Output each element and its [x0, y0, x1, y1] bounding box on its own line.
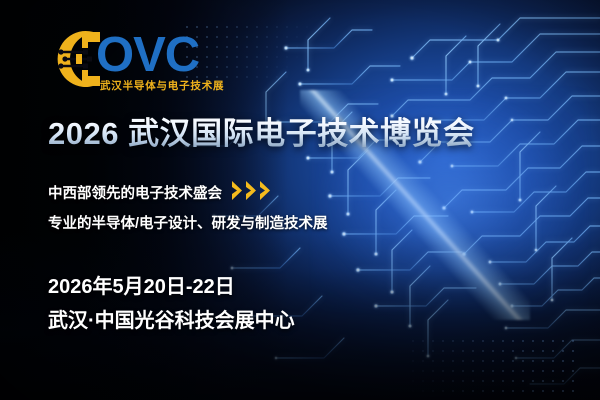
logo-wordmark: OVC	[96, 26, 199, 84]
logo-tagline: 武汉半导体与电子技术展	[100, 78, 224, 93]
poster-subtitle-secondary: 专业的半导体/电子设计、研发与制造技术展	[48, 212, 328, 233]
exhibition-poster: OVC 武汉半导体与电子技术展 2026 武汉国际电子技术博览会 中西部领先的电…	[0, 0, 600, 400]
event-date: 2026年5月20日-22日	[48, 270, 235, 299]
chevron-right-icon	[259, 180, 272, 201]
poster-title: 2026 武汉国际电子技术博览会	[48, 108, 475, 153]
event-venue: 武汉·中国光谷科技会展中心	[48, 304, 295, 333]
chevron-right-icon	[231, 180, 244, 201]
chevron-right-icon	[245, 180, 258, 201]
logo[interactable]: OVC 武汉半导体与电子技术展	[52, 28, 252, 94]
chevron-arrow-group	[231, 180, 272, 201]
poster-subtitle-primary: 中西部领先的电子技术盛会	[48, 182, 222, 203]
